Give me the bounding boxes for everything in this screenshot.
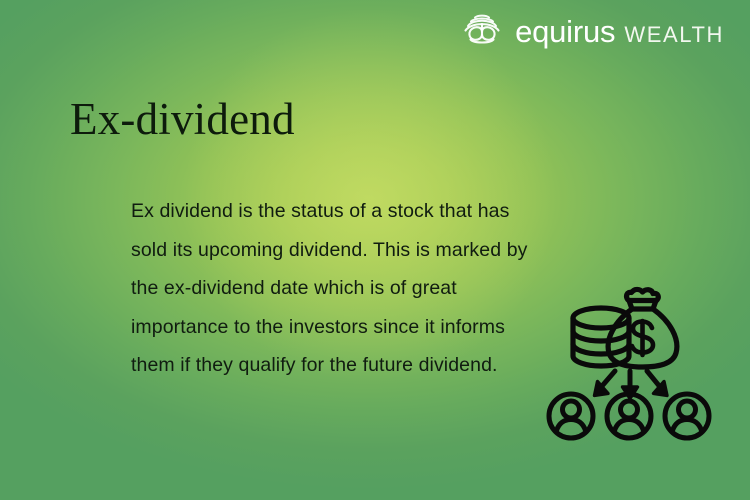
investor-avatar-icon-3 <box>665 394 709 438</box>
banyan-tree-logo-icon <box>459 10 505 52</box>
dividend-distribution-illustration <box>543 283 715 446</box>
slide-canvas: equirus WEALTH Ex-dividend Ex dividend i… <box>0 0 750 500</box>
brand-name: equirus <box>515 16 615 47</box>
investor-avatar-icon-2 <box>607 394 651 438</box>
investor-avatar-icon-1 <box>549 394 593 438</box>
arrow-down-right-icon <box>647 371 667 396</box>
arrow-down-left-icon <box>595 371 616 396</box>
brand-subname: WEALTH <box>624 24 724 46</box>
brand-logo[interactable]: equirus WEALTH <box>459 10 724 52</box>
body-paragraph: Ex dividend is the status of a stock tha… <box>131 192 531 385</box>
page-title: Ex-dividend <box>70 96 295 143</box>
investor-avatar-group <box>549 394 709 438</box>
brand-wordmark: equirus WEALTH <box>515 16 724 47</box>
